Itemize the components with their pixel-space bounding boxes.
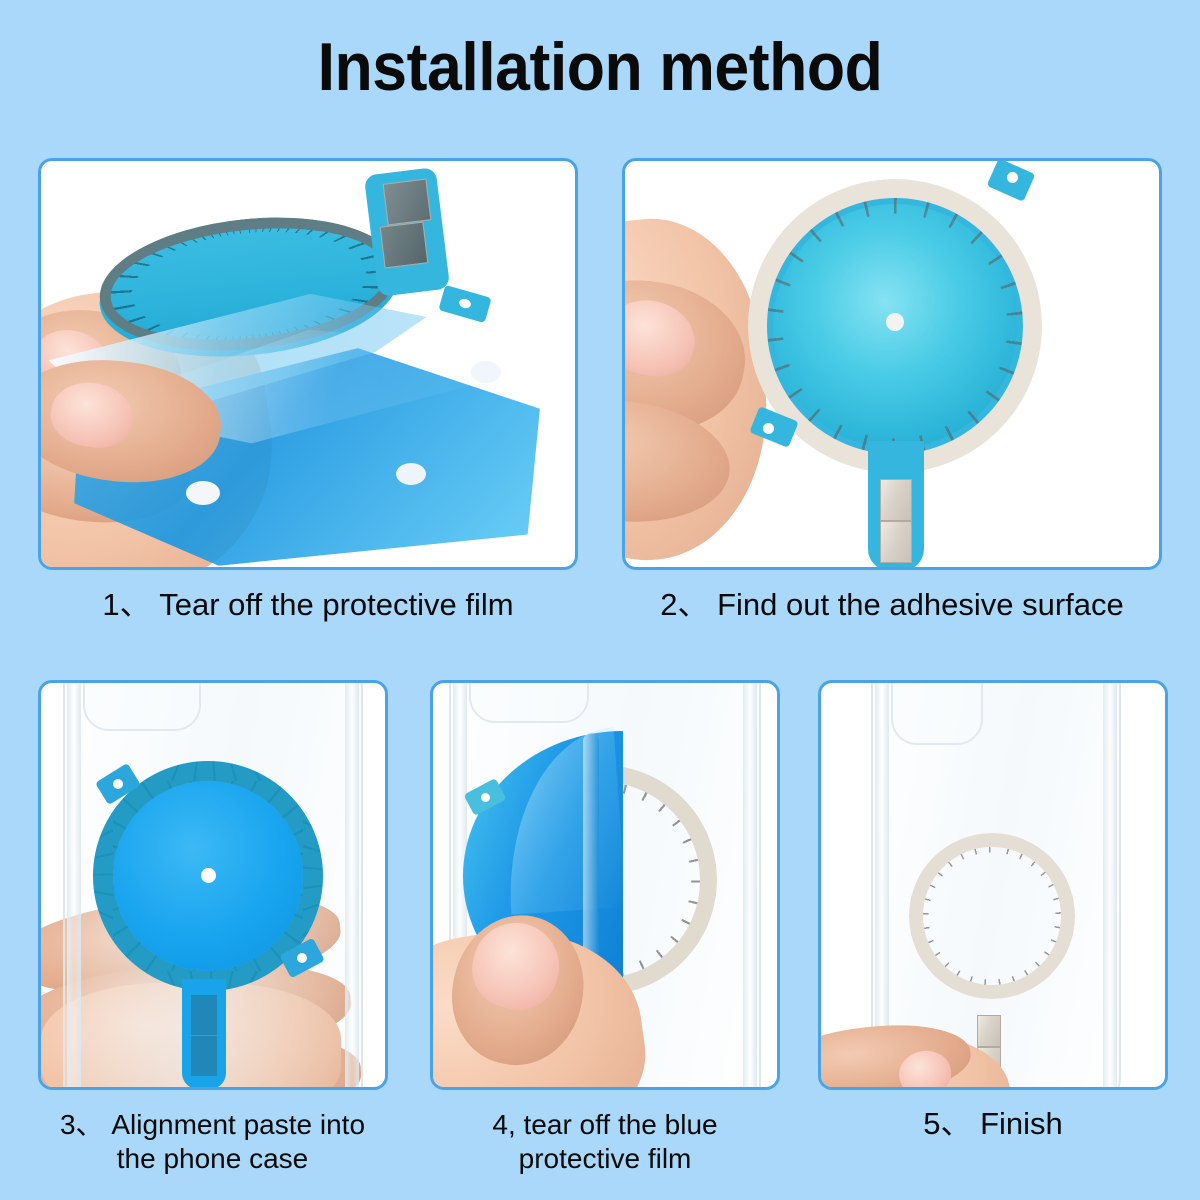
- tab-upper-right-hole: [1007, 172, 1018, 183]
- camera-cutout: [891, 680, 983, 745]
- case-rail-right: [345, 680, 359, 1090]
- alignment-magnet-upper: [383, 178, 432, 225]
- tab-upper-left-hole: [113, 779, 123, 789]
- step-1-caption: 1、 Tear off the protective film: [38, 586, 578, 623]
- camera-cutout: [469, 680, 589, 723]
- step-2-illustration: [625, 161, 1159, 567]
- step-4-caption: 4, tear off the blue protective film: [420, 1108, 790, 1176]
- step-panel-2: [622, 158, 1162, 570]
- step-2-caption: 2、 Find out the adhesive surface: [608, 586, 1176, 623]
- step-5-caption: 5、 Finish: [818, 1105, 1168, 1142]
- tab-lower-left-hole: [763, 423, 774, 434]
- tab-lower-right-hole: [297, 953, 307, 963]
- step-3-illustration: [41, 683, 385, 1087]
- alignment-magnet-lower: [880, 521, 912, 563]
- alignment-magnet-upper: [191, 995, 217, 1035]
- case-rail-right: [743, 680, 757, 1090]
- case-rail-left: [67, 680, 81, 1090]
- step-panel-3: [38, 680, 388, 1090]
- step-panel-5: [818, 680, 1168, 1090]
- ring-center-dot: [201, 868, 216, 883]
- step-panel-1: [38, 158, 578, 570]
- alignment-magnet-lower: [380, 221, 429, 268]
- film-tab-upper-left-hole: [481, 793, 490, 802]
- step-3-caption: 3、 Alignment paste into the phone case: [20, 1108, 405, 1176]
- step-panel-4: [430, 680, 780, 1090]
- step-5-illustration: [821, 683, 1165, 1087]
- film-hole-corner: [471, 361, 501, 383]
- film-hole-left: [186, 481, 220, 505]
- case-rail-right: [1103, 680, 1117, 1090]
- step-1-illustration: [41, 161, 575, 567]
- step-4-illustration: [433, 683, 777, 1087]
- magnet-ring-segments: [909, 833, 1075, 999]
- film-hole-right: [396, 463, 426, 485]
- alignment-magnet-upper: [880, 479, 912, 521]
- alignment-magnet-upper: [977, 1015, 1001, 1047]
- page-title: Installation method: [48, 28, 1152, 106]
- camera-cutout: [83, 680, 201, 731]
- alignment-magnet-lower: [191, 1036, 217, 1076]
